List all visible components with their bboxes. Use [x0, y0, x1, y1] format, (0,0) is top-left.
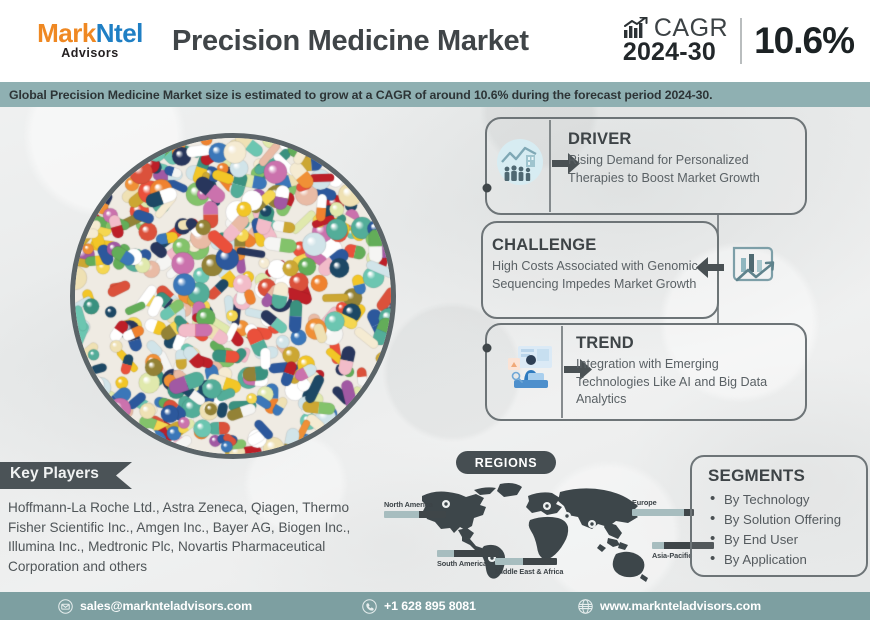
driver-text: Rising Demand for Personalized Therapies… — [568, 152, 773, 187]
footer-email-text: sales@marknteladvisors.com — [80, 599, 252, 613]
region-middle-east-africa: Middle East & Africa — [495, 556, 563, 576]
regions-label-pill: REGIONS — [456, 451, 556, 474]
challenge-title: CHALLENGE — [492, 236, 596, 255]
region-label: Middle East & Africa — [495, 567, 563, 576]
subtitle-text: Global Precision Medicine Market size is… — [0, 88, 712, 102]
region-europe: Europe — [632, 498, 694, 516]
cagr-label: CAGR — [654, 17, 728, 39]
page-title: Precision Medicine Market — [172, 20, 612, 62]
segments-box: SEGMENTS By Technology By Solution Offer… — [690, 455, 868, 577]
regions-label: REGIONS — [475, 456, 538, 470]
trend-text: Integration with Emerging Technologies L… — [576, 356, 776, 409]
region-north-america: North America — [384, 500, 446, 518]
region-label: North America — [384, 500, 446, 509]
pills-canvas — [75, 138, 391, 454]
driver-title: DRIVER — [568, 130, 632, 149]
region-south-america: South America — [437, 548, 499, 568]
phone-icon — [362, 599, 377, 614]
trend-title: TREND — [576, 334, 634, 353]
cagr-label-block: CAGR 2024-30 — [623, 17, 740, 65]
region-bar — [495, 558, 557, 565]
key-players-label: Key Players — [10, 465, 99, 483]
cagr-period: 2024-30 — [623, 39, 728, 65]
cagr-value: 10.6% — [742, 20, 854, 62]
key-players-list: Hoffmann-La Roche Ltd., Astra Zeneca, Qi… — [8, 498, 360, 576]
footer-phone-text: +1 628 895 8081 — [384, 599, 476, 613]
drivers-challenges-trends-diagram: DRIVER Rising Demand for Personalized Th… — [478, 112, 812, 424]
region-label: South America — [437, 559, 499, 568]
segment-item: By Solution Offering — [710, 510, 841, 530]
person-dashboard-icon — [504, 340, 556, 392]
region-bar — [632, 509, 694, 516]
region-bar — [384, 511, 446, 518]
region-label: Europe — [632, 498, 694, 507]
segment-item: By Application — [710, 550, 841, 570]
envelope-icon — [58, 599, 73, 614]
bar-chart-growth-icon — [623, 17, 649, 39]
hero-pills-image — [70, 133, 396, 459]
footer-phone[interactable]: +1 628 895 8081 — [362, 599, 476, 614]
logo-text-mark: Mark — [37, 18, 96, 48]
segments-list: By Technology By Solution Offering By En… — [710, 490, 841, 570]
segment-item: By End User — [710, 530, 841, 550]
people-chart-growth-icon — [496, 138, 544, 186]
infographic-page: MarkNtel Advisors Precision Medicine Mar… — [0, 0, 870, 620]
globe-icon — [578, 599, 593, 614]
logo-text-ntel: Ntel — [96, 18, 143, 48]
footer-website-text: www.marknteladvisors.com — [600, 599, 761, 613]
logo-tagline: Advisors — [22, 47, 158, 60]
footer-email[interactable]: sales@marknteladvisors.com — [58, 599, 252, 614]
subtitle-bar: Global Precision Medicine Market size is… — [0, 82, 870, 107]
company-logo: MarkNtel Advisors — [22, 20, 158, 60]
cagr-badge: CAGR 2024-30 10.6% — [623, 12, 854, 70]
segment-item: By Technology — [710, 490, 841, 510]
challenge-text: High Costs Associated with Genomic Seque… — [492, 258, 702, 293]
footer-website[interactable]: www.marknteladvisors.com — [578, 599, 761, 614]
regions-section: REGIONS — [380, 448, 680, 588]
region-bar — [437, 550, 499, 557]
bar-chart-arrow-icon — [728, 244, 780, 292]
segments-title: SEGMENTS — [708, 466, 805, 486]
footer: sales@marknteladvisors.com +1 628 895 80… — [0, 592, 870, 620]
header: MarkNtel Advisors Precision Medicine Mar… — [0, 0, 870, 82]
